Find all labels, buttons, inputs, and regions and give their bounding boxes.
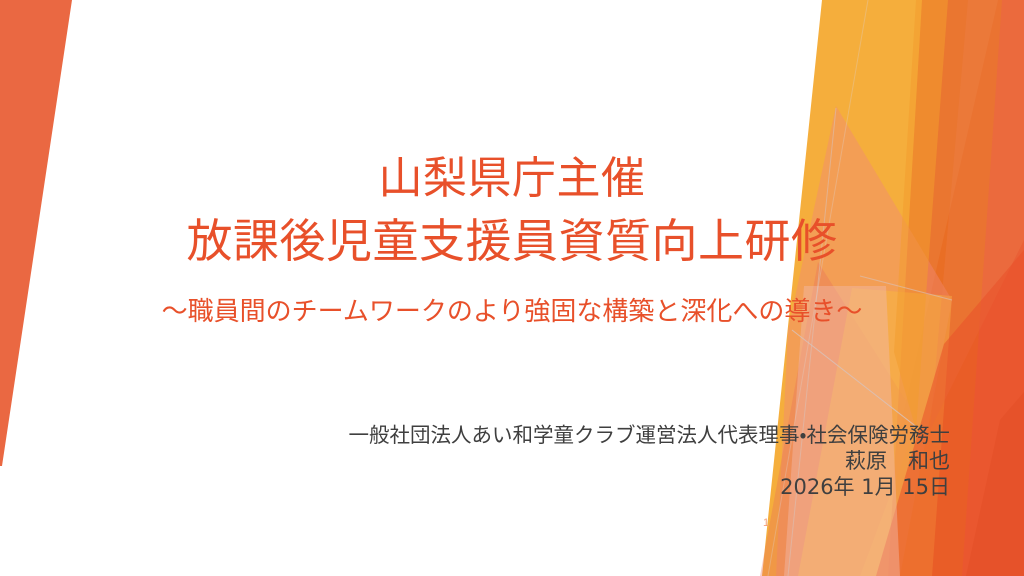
- title-line-2: 放課後児童支援員資質向上研修: [0, 210, 1024, 272]
- title-line-1: 山梨県庁主催: [0, 148, 1024, 210]
- presentation-slide: 山梨県庁主催 放課後児童支援員資質向上研修 〜職員間のチームワークのより強固な構…: [0, 0, 1024, 576]
- slide-title: 山梨県庁主催 放課後児童支援員資質向上研修: [0, 148, 1024, 272]
- author-organization: 一般社団法人あい和学童クラブ運営法人代表理事・社会保険労務士: [180, 422, 950, 448]
- page-number: 1: [752, 516, 780, 530]
- author-info-block: 一般社団法人あい和学童クラブ運営法人代表理事・社会保険労務士 萩原 和也 202…: [180, 422, 950, 500]
- presentation-date: 2026年 1月 15日: [180, 474, 950, 500]
- slide-subtitle: 〜職員間のチームワークのより強固な構築と深化への導き〜: [0, 294, 1024, 330]
- slide-content: 山梨県庁主催 放課後児童支援員資質向上研修 〜職員間のチームワークのより強固な構…: [0, 0, 1024, 576]
- author-name: 萩原 和也: [180, 448, 950, 474]
